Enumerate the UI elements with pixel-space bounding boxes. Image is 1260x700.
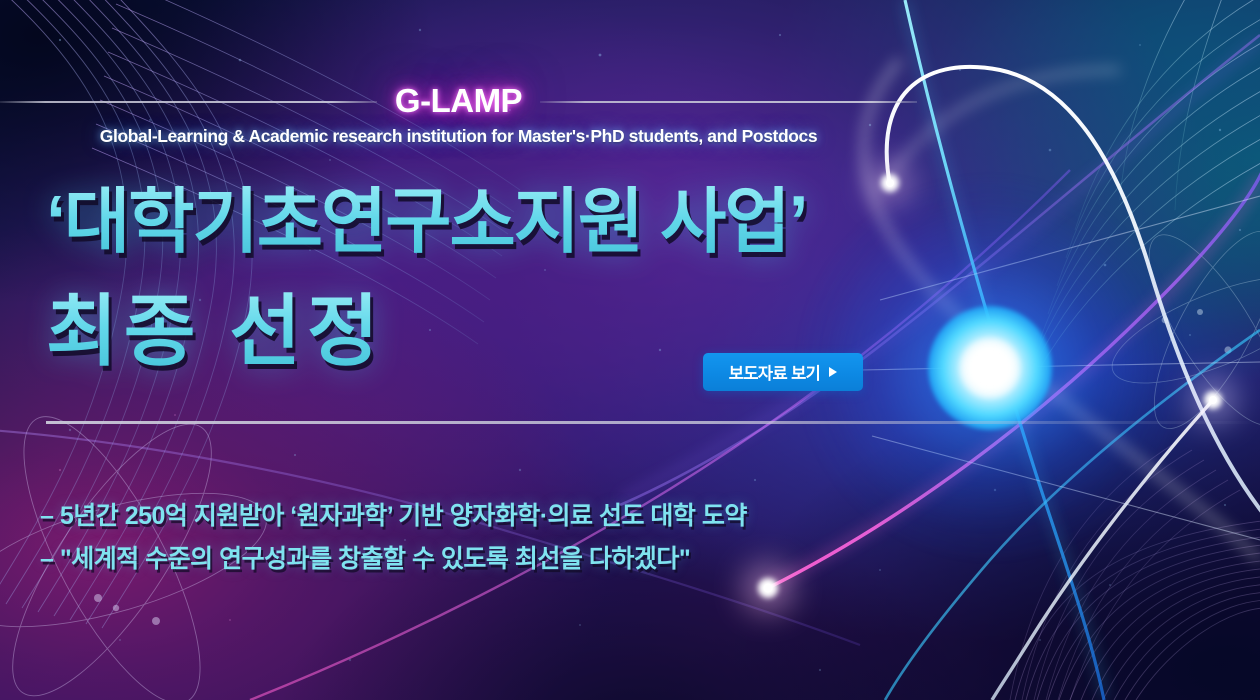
bullet-item: – 5년간 250억 지원받아 ‘원자과학’ 기반 양자화학·의료 선도 대학 … [40, 496, 747, 532]
brand-rule-right [540, 101, 917, 103]
press-release-button-label: 보도자료 보기 [729, 360, 820, 384]
bullet-list: – 5년간 250억 지원받아 ‘원자과학’ 기반 양자화학·의료 선도 대학 … [40, 496, 747, 575]
press-release-button[interactable]: 보도자료 보기 [703, 353, 863, 391]
brand-name: G-LAMP [377, 82, 540, 120]
brand-rule-left [0, 101, 377, 103]
section-divider [46, 421, 1260, 424]
bullet-item: – "세계적 수준의 연구성과를 창출할 수 있도록 최선을 다하겠다" [40, 539, 747, 575]
brand-row: G-LAMP [0, 80, 917, 122]
play-triangle-icon [829, 367, 837, 377]
headline-line-1: ‘대학기초연구소지원 사업’ [46, 186, 807, 258]
brand-tagline: Global-Learning & Academic research inst… [0, 126, 917, 147]
promo-banner: G-LAMP Global-Learning & Academic resear… [0, 0, 1260, 700]
banner-content: G-LAMP Global-Learning & Academic resear… [0, 0, 1260, 700]
headline-line-2: 최종 선정 [46, 292, 385, 370]
